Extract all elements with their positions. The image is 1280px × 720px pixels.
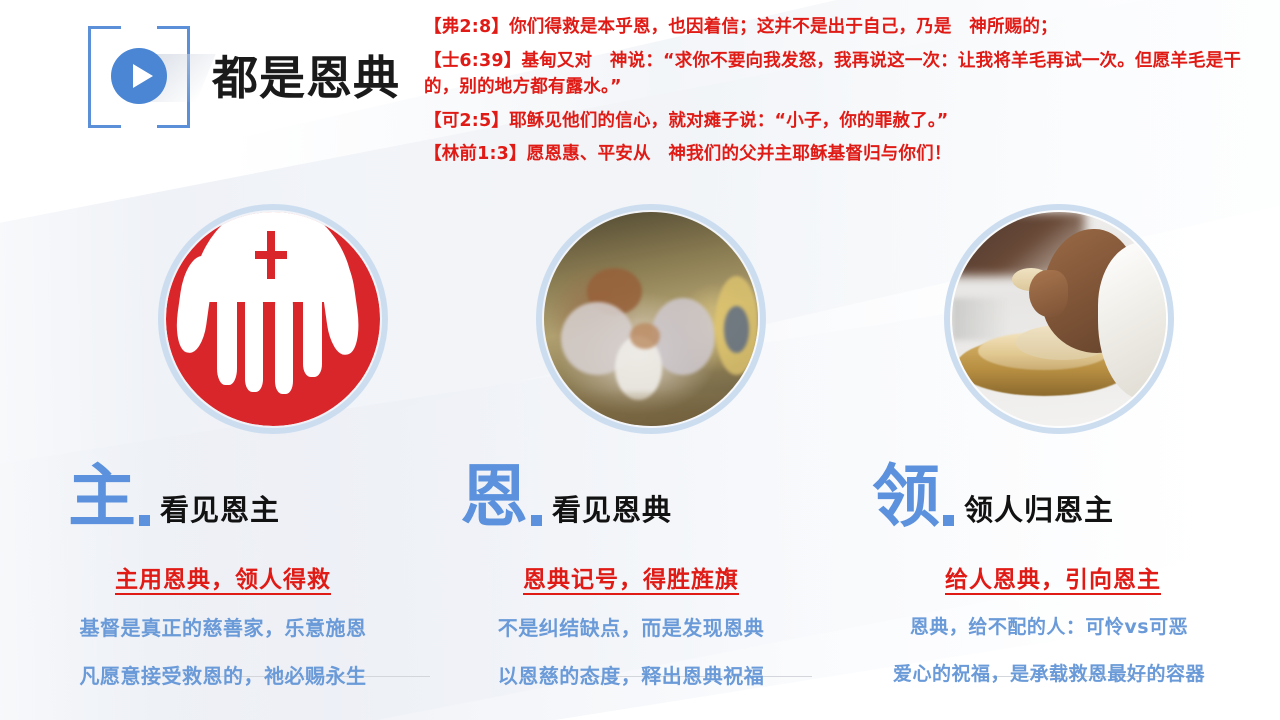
body-text-1: 基督是真正的慈善家，乐意施恩 凡愿意接受救恩的，祂必赐永生 (10, 618, 436, 714)
scripture-text-1: 你们得救是本乎恩，也因着信；这并不是出于自己，乃是 神所赐的； (509, 17, 1058, 37)
content-columns: 主 看见恩主 主用恩典，领人得救 基督是真正的慈善家，乐意施恩 凡愿意接受救恩的… (0, 198, 1280, 720)
hand-palm-2 (241, 276, 265, 296)
big-char-dot-2 (531, 515, 542, 526)
hand-palm-3 (271, 278, 295, 298)
painting-floor (544, 392, 758, 426)
heading-3: 领 领人归恩主 (872, 464, 1114, 532)
logo (88, 26, 190, 128)
content-column-3: 领 领人归恩主 给人恩典，引向恩主 恩典，给不配的人：可怜vs可恶 爱心的祝福，… (830, 198, 1256, 720)
body-line-2-1: 不是纠结缺点，而是发现恩典 (418, 618, 844, 638)
raised-hands-cross-image (166, 212, 380, 426)
scripture-ref-3: 【可2:5】 (424, 111, 509, 131)
scripture-line-2: 【士6:39】基甸又对 神说：“求你不要向我发怒，我再说这一次：让我将羊毛再试一… (424, 48, 1270, 101)
hand-arm-4 (303, 270, 322, 377)
body-line-2-2: 以恩慈的态度，释出恩典祝福 (418, 666, 844, 686)
painting-artwork (544, 212, 758, 426)
scripture-text-2: 基甸又对 神说：“求你不要向我发怒，我再说这一次：让我将羊毛再试一次。但愿羊毛是… (424, 51, 1241, 98)
big-char-1: 主 (68, 464, 136, 532)
body-line-1-2: 凡愿意接受救恩的，祂必赐永生 (10, 666, 436, 686)
scripture-ref-4: 【林前1:3】 (424, 144, 527, 164)
communion-artwork (952, 212, 1166, 426)
heading-2: 恩 看见恩典 (460, 464, 672, 532)
scripture-ref-1: 【弗2:8】 (424, 17, 509, 37)
red-headline-3: 给人恩典，引向恩主 (840, 560, 1266, 594)
body-text-2: 不是纠结缺点，而是发现恩典 以恩慈的态度，释出恩典祝福 (418, 618, 844, 714)
hand-arm-2 (245, 285, 263, 392)
content-column-2: 恩 看见恩典 恩典记号，得胜旌旗 不是纠结缺点，而是发现恩典 以恩慈的态度，释出… (418, 198, 844, 720)
scripture-text-3: 耶稣见他们的信心，就对瘫子说：“小子，你的罪赦了。” (509, 111, 948, 131)
slide-canvas: 都是恩典 【弗2:8】你们得救是本乎恩，也因着信；这并不是出于自己，乃是 神所赐… (0, 0, 1280, 720)
raised-hands-artwork (166, 212, 380, 426)
body-line-3-1: 恩典，给不配的人：可怜vs可恶 (836, 618, 1262, 637)
scripture-line-1: 【弗2:8】你们得救是本乎恩，也因着信；这并不是出于自己，乃是 神所赐的； (424, 14, 1270, 41)
cross-icon-horizontal (255, 251, 287, 259)
big-char-3: 领 (872, 464, 940, 532)
scripture-line-4: 【林前1:3】愿恩惠、平安从 神我们的父并主耶稣基督归与你们！ (424, 141, 1270, 168)
body-line-3-2: 爱心的祝福，是承载救恩最好的容器 (836, 665, 1262, 684)
big-char-dot-1 (139, 515, 150, 526)
body-line-1-1: 基督是真正的慈善家，乐意施恩 (10, 618, 436, 638)
sub-title-1: 看见恩主 (160, 487, 280, 529)
sub-title-3: 领人归恩主 (964, 487, 1114, 529)
red-headline-1: 主用恩典，领人得救 (10, 560, 436, 594)
big-char-dot-3 (943, 515, 954, 526)
hand-palm-1 (213, 240, 239, 262)
communion-left-blur (952, 298, 1008, 341)
big-char-2: 恩 (460, 464, 528, 532)
scripture-ref-2: 【士6:39】 (424, 51, 521, 71)
page-title: 都是恩典 (212, 42, 400, 108)
heading-1: 主 看见恩主 (68, 464, 280, 532)
hand-palm-4 (299, 261, 324, 282)
communion-thumb (1029, 270, 1068, 317)
hand-arm-3 (275, 287, 293, 394)
content-column-1: 主 看见恩主 主用恩典，领人得救 基督是真正的慈善家，乐意施恩 凡愿意接受救恩的… (10, 198, 436, 720)
biblical-blessing-painting-image (544, 212, 758, 426)
play-triangle-icon (133, 64, 153, 88)
body-text-3: 恩典，给不配的人：可怜vs可恶 爱心的祝福，是承载救恩最好的容器 (836, 618, 1262, 712)
hand-arm-1 (217, 248, 237, 385)
red-headline-2: 恩典记号，得胜旌旗 (418, 560, 844, 594)
communion-wafers-image (952, 212, 1166, 426)
scripture-block: 【弗2:8】你们得救是本乎恩，也因着信；这并不是出于自己，乃是 神所赐的； 【士… (424, 14, 1270, 175)
painting-figure-7 (630, 323, 660, 349)
scripture-text-4: 愿恩惠、平安从 神我们的父并主耶稣基督归与你们！ (527, 144, 952, 164)
sub-title-2: 看见恩典 (552, 487, 672, 529)
scripture-line-3: 【可2:5】耶稣见他们的信心，就对瘫子说：“小子，你的罪赦了。” (424, 108, 1270, 135)
